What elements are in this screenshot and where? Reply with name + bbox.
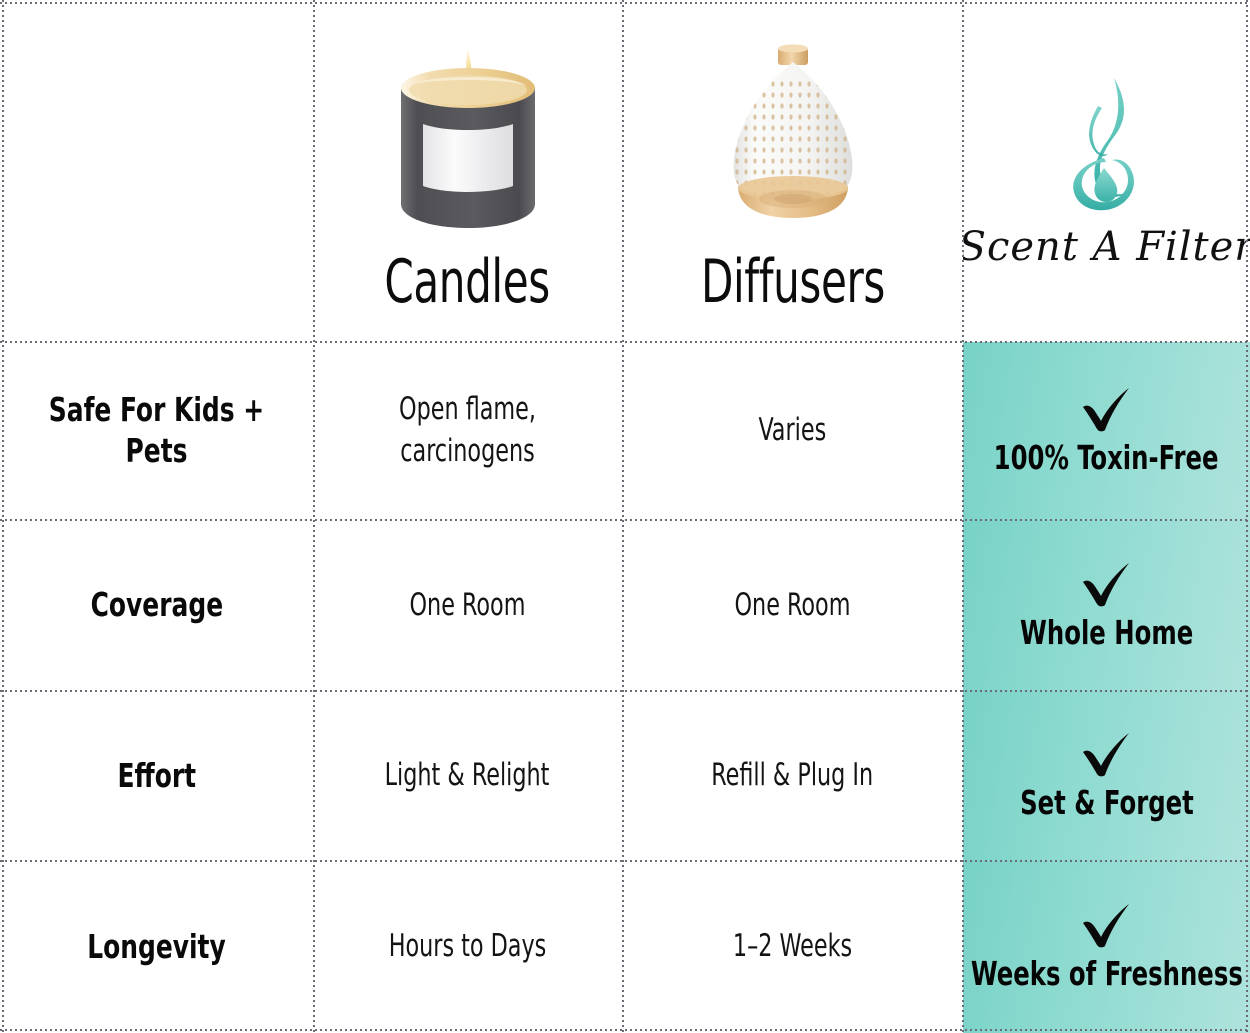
checkmark-icon (1077, 385, 1137, 438)
table-cell-brand-coverage: Whole Home (963, 520, 1250, 691)
table-cell-diffusers-longevity: 1–2 Weeks (622, 861, 963, 1033)
checkmark-icon (1077, 730, 1137, 783)
cell-value-highlight: Whole Home (1020, 615, 1193, 651)
table-corner-cell (0, 0, 313, 342)
comparison-chart-page: Candles (0, 0, 1250, 1033)
cell-value: One Room (410, 585, 526, 627)
row-label-cell: Coverage (0, 520, 313, 691)
cell-value-highlight: Set & Forget (1020, 785, 1194, 821)
column-header-label-diffusers: Diffusers (700, 252, 884, 312)
row-label-coverage: Coverage (90, 585, 223, 626)
checkmark-icon (1077, 901, 1137, 954)
table-cell-diffusers-safe: Varies (622, 342, 963, 520)
table-cell-brand-longevity: Weeks of Freshness (963, 861, 1250, 1033)
cell-value-highlight: 100% Toxin-Free (994, 440, 1219, 476)
candle-illustration (321, 31, 614, 236)
table-cell-candles-coverage: One Room (313, 520, 622, 691)
table-cell-diffusers-effort: Refill & Plug In (622, 691, 963, 861)
cell-value: Refill & Plug In (712, 755, 874, 797)
cell-value: 1–2 Weeks (733, 926, 852, 968)
row-label-cell: Effort (0, 691, 313, 861)
row-label-longevity: Longevity (87, 927, 226, 968)
flame-droplet-icon (1042, 72, 1172, 222)
table-cell-candles-longevity: Hours to Days (313, 861, 622, 1033)
column-header-candles: Candles (313, 0, 622, 342)
row-label-safe-for-kids-pets: Safe For Kids + Pets (32, 390, 281, 472)
comparison-table: Candles (0, 0, 1250, 1033)
diffuser-illustration (630, 31, 955, 236)
cell-value: Light & Relight (385, 755, 550, 797)
cell-value: Hours to Days (389, 926, 547, 968)
table-cell-diffusers-coverage: One Room (622, 520, 963, 691)
column-header-brand: Scent A Filter (963, 0, 1250, 342)
cell-value: Varies (759, 410, 827, 452)
column-header-diffusers: Diffusers (622, 0, 963, 342)
table-cell-brand-safe: 100% Toxin-Free (963, 342, 1250, 520)
column-header-label-candles: Candles (385, 252, 550, 312)
row-label-cell: Safe For Kids + Pets (0, 342, 313, 520)
cell-value: One Room (735, 585, 851, 627)
table-cell-candles-safe: Open flame, carcinogens (313, 342, 622, 520)
brand-wordmark: Scent A Filter (963, 224, 1250, 270)
table-cell-candles-effort: Light & Relight (313, 691, 622, 861)
checkmark-icon (1077, 560, 1137, 613)
row-label-cell: Longevity (0, 861, 313, 1033)
brand-logo: Scent A Filter (963, 72, 1250, 270)
table-cell-brand-effort: Set & Forget (963, 691, 1250, 861)
cell-value-highlight: Weeks of Freshness (971, 956, 1243, 992)
row-label-effort: Effort (117, 756, 196, 797)
cell-value: Open flame, carcinogens (350, 389, 584, 472)
